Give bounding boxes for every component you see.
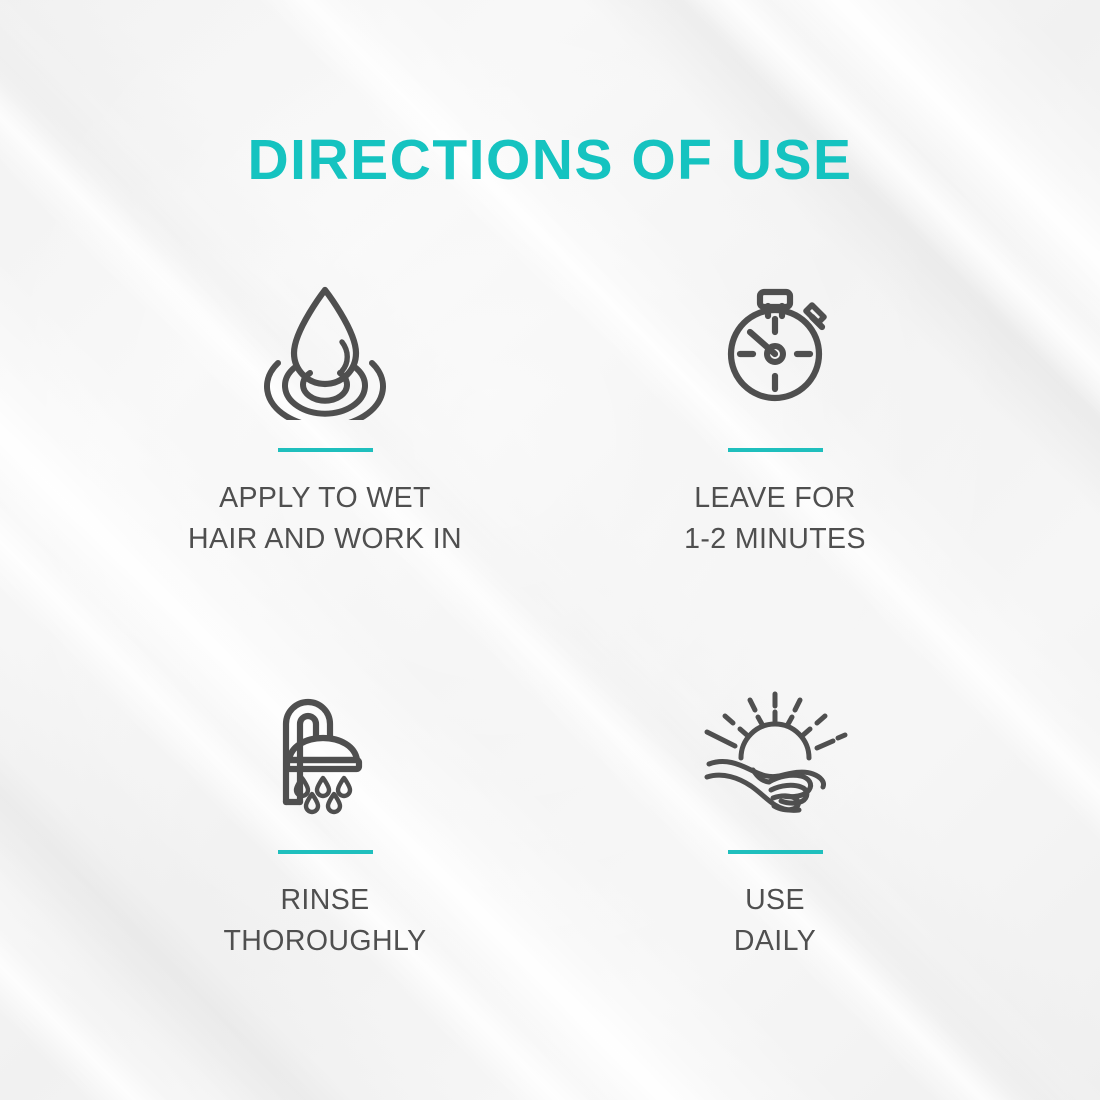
shower-head-icon [250,672,400,822]
stopwatch-icon [700,270,850,420]
step-use-daily: USE DAILY [550,672,1000,962]
step-label: LEAVE FOR 1-2 MINUTES [684,478,866,560]
step-divider [278,850,373,854]
step-divider [728,850,823,854]
sun-in-hand-icon [695,672,855,822]
step-label: RINSE THOROUGHLY [224,880,427,962]
steps-grid: APPLY TO WET HAIR AND WORK IN [100,270,1000,962]
step-divider [278,448,373,452]
water-drop-ripple-icon [250,270,400,420]
step-label: USE DAILY [734,880,816,962]
step-leave-for-minutes: LEAVE FOR 1-2 MINUTES [550,270,1000,560]
step-rinse-thoroughly: RINSE THOROUGHLY [100,672,550,962]
directions-of-use-infographic: DIRECTIONS OF USE [0,0,1100,1100]
page-title: DIRECTIONS OF USE [0,132,1100,189]
step-apply-to-wet-hair: APPLY TO WET HAIR AND WORK IN [100,270,550,560]
step-divider [728,448,823,452]
step-label: APPLY TO WET HAIR AND WORK IN [188,478,462,560]
